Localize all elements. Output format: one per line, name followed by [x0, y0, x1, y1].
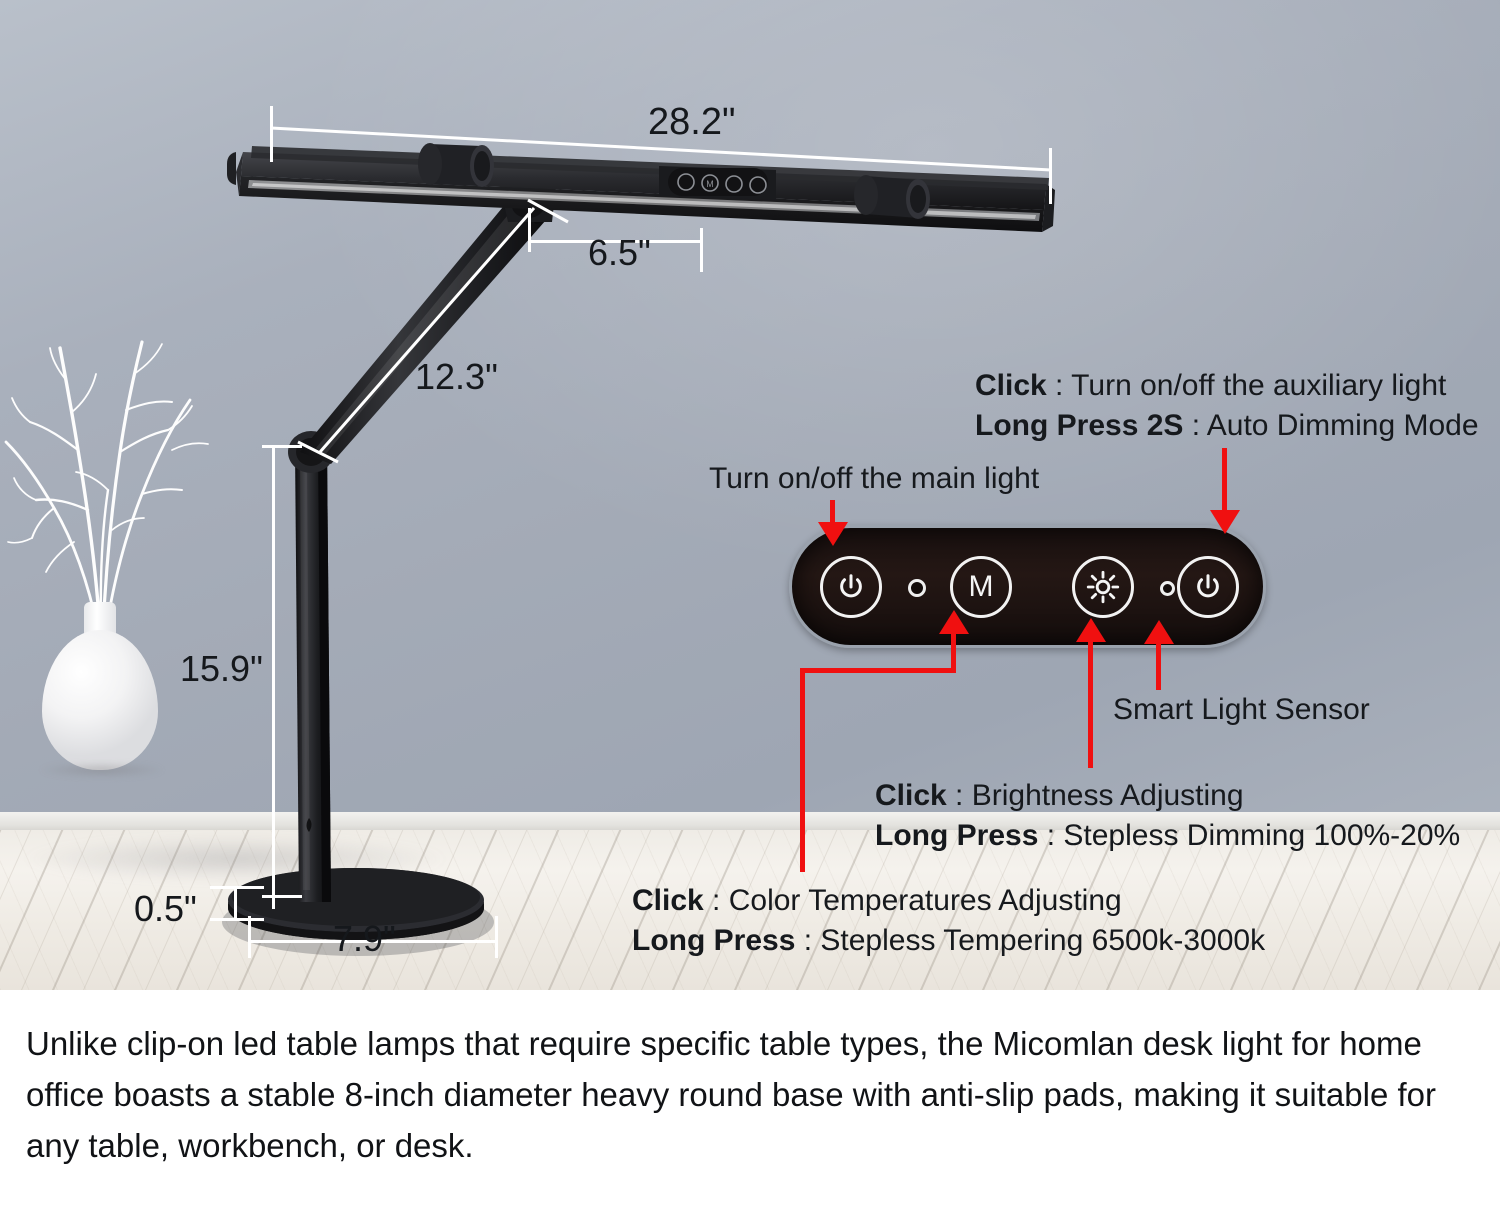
arrow-brightness-head	[1076, 618, 1106, 642]
arrow-sensor-head	[1144, 620, 1174, 644]
power-icon	[836, 572, 866, 602]
callout-aux-line2: Long Press 2S : Auto Dimming Mode	[975, 406, 1479, 446]
power-icon	[1193, 572, 1223, 602]
aux-power-button[interactable]	[1177, 556, 1239, 618]
arrow-color-temp-horizontal	[800, 668, 956, 673]
dim-label-base-thickness: 0.5"	[134, 888, 197, 930]
callout-aux-line1-rest: : Turn on/off the auxiliary light	[1047, 369, 1447, 402]
callout-main-light: Turn on/off the main light	[709, 462, 1039, 496]
dim-tick-top-159	[262, 445, 302, 448]
dim-line-123	[290, 190, 580, 470]
callout-aux-line1: Click : Turn on/off the auxiliary light	[975, 366, 1479, 406]
arrow-aux-light-head	[1210, 510, 1240, 534]
callout-brightness-line2: Long Press : Stepless Dimming 100%-20%	[875, 816, 1460, 856]
callout-brightness-line1: Click : Brightness Adjusting	[875, 776, 1460, 816]
dim-label-base-diameter: 7.9"	[333, 918, 396, 960]
callout-brightness-line2-rest: : Stepless Dimming 100%-20%	[1038, 819, 1460, 852]
dim-tick-top-05	[210, 886, 264, 889]
main-power-button[interactable]	[820, 556, 882, 618]
callout-brightness: Click : Brightness Adjusting Long Press …	[875, 776, 1460, 856]
callout-colortemp-line1: Click : Color Temperatures Adjusting	[632, 881, 1265, 921]
callout-color-temperature: Click : Color Temperatures Adjusting Lon…	[632, 881, 1265, 961]
callout-aux-line1-bold: Click	[975, 369, 1047, 402]
dim-tick-left-79	[248, 916, 251, 958]
control-panel[interactable]: M	[789, 525, 1266, 648]
dim-line-159	[272, 445, 275, 909]
dim-tick-right-65	[700, 228, 703, 272]
arrow-sensor-stem	[1156, 642, 1161, 690]
callout-aux-line2-bold: Long Press 2S	[975, 409, 1183, 442]
dim-tick-right-79	[495, 916, 498, 958]
sensor-dot-icon	[1160, 581, 1175, 596]
arrow-brightness-stem	[1088, 640, 1093, 768]
indicator-led-icon	[908, 579, 926, 597]
callout-brightness-line1-bold: Click	[875, 779, 947, 812]
arrow-main-light-head	[818, 522, 848, 546]
room-scene: M 28.2" 6.5" 12.3"	[0, 0, 1500, 990]
dim-line-05	[234, 886, 237, 921]
callout-brightness-line1-rest: : Brightness Adjusting	[947, 779, 1244, 812]
callout-aux-line2-rest: : Auto Dimming Mode	[1183, 409, 1478, 442]
dim-label-pole-height: 15.9"	[180, 648, 263, 690]
dim-label-upper-arm: 12.3"	[415, 356, 498, 398]
callout-colortemp-line1-bold: Click	[632, 884, 704, 917]
callout-colortemp-line2-rest: : Stepless Tempering 6500k-3000k	[795, 924, 1265, 957]
callout-colortemp-line2: Long Press : Stepless Tempering 6500k-30…	[632, 921, 1265, 961]
callout-brightness-line2-bold: Long Press	[875, 819, 1038, 852]
brightness-sun-icon	[1086, 570, 1120, 604]
callout-aux-light: Click : Turn on/off the auxiliary light …	[975, 366, 1479, 446]
mode-button[interactable]: M	[950, 556, 1012, 618]
dim-label-head-width: 28.2"	[648, 101, 735, 144]
callout-sensor: Smart Light Sensor	[1113, 693, 1370, 727]
callout-colortemp-line2-bold: Long Press	[632, 924, 795, 957]
dim-tick-bottom-159	[262, 895, 302, 898]
product-infographic: M 28.2" 6.5" 12.3"	[0, 0, 1500, 1211]
arrow-color-temp-vertical	[800, 668, 805, 872]
arrow-aux-light-stem	[1222, 448, 1227, 518]
dim-label-head-offset: 6.5"	[588, 232, 651, 274]
callout-colortemp-line1-rest: : Color Temperatures Adjusting	[704, 884, 1122, 917]
product-description: Unlike clip-on led table lamps that requ…	[26, 1018, 1476, 1171]
brightness-button[interactable]	[1072, 556, 1134, 618]
arrow-color-temp-up-stem	[951, 630, 956, 672]
dim-tick-bottom-05	[210, 918, 264, 921]
arrow-color-temp-head	[939, 610, 969, 634]
